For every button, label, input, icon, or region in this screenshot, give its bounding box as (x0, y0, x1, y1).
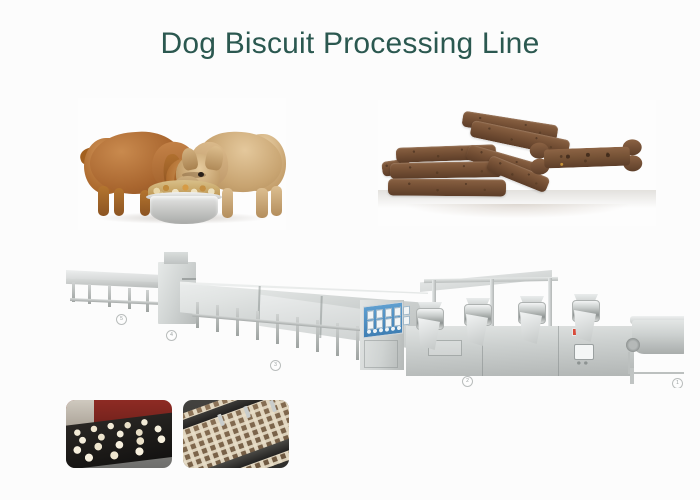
forming-machine-body (406, 326, 634, 376)
panel-knob[interactable] (379, 328, 383, 332)
mixer-trough (632, 320, 684, 354)
panel-meter[interactable] (385, 308, 392, 318)
callout-marker-5: 5 (116, 314, 127, 325)
oven-leg (236, 308, 239, 336)
control-panel[interactable] (363, 302, 403, 339)
dogs-eating-photo (78, 98, 286, 230)
mixer-drive-wheel (626, 338, 640, 352)
callout-marker-2: 2 (462, 376, 473, 387)
page-title: Dog Biscuit Processing Line (0, 27, 700, 61)
spaniel-leg (98, 186, 109, 216)
panel-knob[interactable] (385, 327, 389, 331)
dog-biscuits-photo (378, 100, 656, 226)
panel-knob[interactable] (367, 329, 371, 333)
bulldog-leg (271, 186, 282, 216)
spaniel-leg (114, 188, 124, 216)
panel-knob[interactable] (373, 329, 377, 333)
callout-marker-1: 1 (672, 378, 683, 388)
frame-post (548, 278, 552, 332)
biscuit-bar (388, 178, 506, 196)
biscuit-bar (390, 161, 502, 179)
inset-photo-belt-grid (183, 400, 289, 468)
panel-knob[interactable] (391, 327, 395, 331)
panel-meter[interactable] (403, 316, 410, 326)
panel-meter[interactable] (403, 306, 410, 316)
panel-meter[interactable] (394, 307, 401, 317)
dough-mixer (626, 312, 684, 374)
bulldog-leg (222, 188, 233, 218)
bulldog-leg (256, 188, 268, 218)
body-seam (558, 326, 559, 376)
food-bowl (150, 196, 218, 224)
oven-leg (256, 311, 259, 340)
bulldog-eye (198, 172, 204, 177)
conveyor-leg (108, 286, 111, 307)
biscuit-speck (560, 163, 563, 166)
panel-meter[interactable] (376, 309, 383, 319)
table-reflection (406, 204, 628, 218)
callout-marker-3: 3 (270, 360, 281, 371)
machine-gauge (574, 344, 594, 360)
callout-marker-4: 4 (166, 330, 177, 341)
bone-shaped-biscuit (529, 138, 642, 176)
panel-knob[interactable] (397, 326, 401, 330)
unit-hood (164, 252, 188, 264)
mixer-foot (630, 368, 634, 384)
cabinet-door[interactable] (364, 340, 398, 368)
inset-photo-bones-on-conveyor (66, 400, 172, 468)
bone-shaft (544, 146, 631, 168)
production-line-photo: 5 4 3 2 1 (20, 248, 684, 388)
panel-meter[interactable] (367, 310, 374, 320)
page-canvas: Dog Biscuit Processing Line (0, 0, 700, 500)
oven-leg (276, 314, 279, 344)
conveyor-leg (128, 288, 131, 309)
mixer-frame (628, 352, 684, 374)
machine-knobs[interactable] (576, 361, 590, 365)
oven-leg (356, 326, 359, 360)
